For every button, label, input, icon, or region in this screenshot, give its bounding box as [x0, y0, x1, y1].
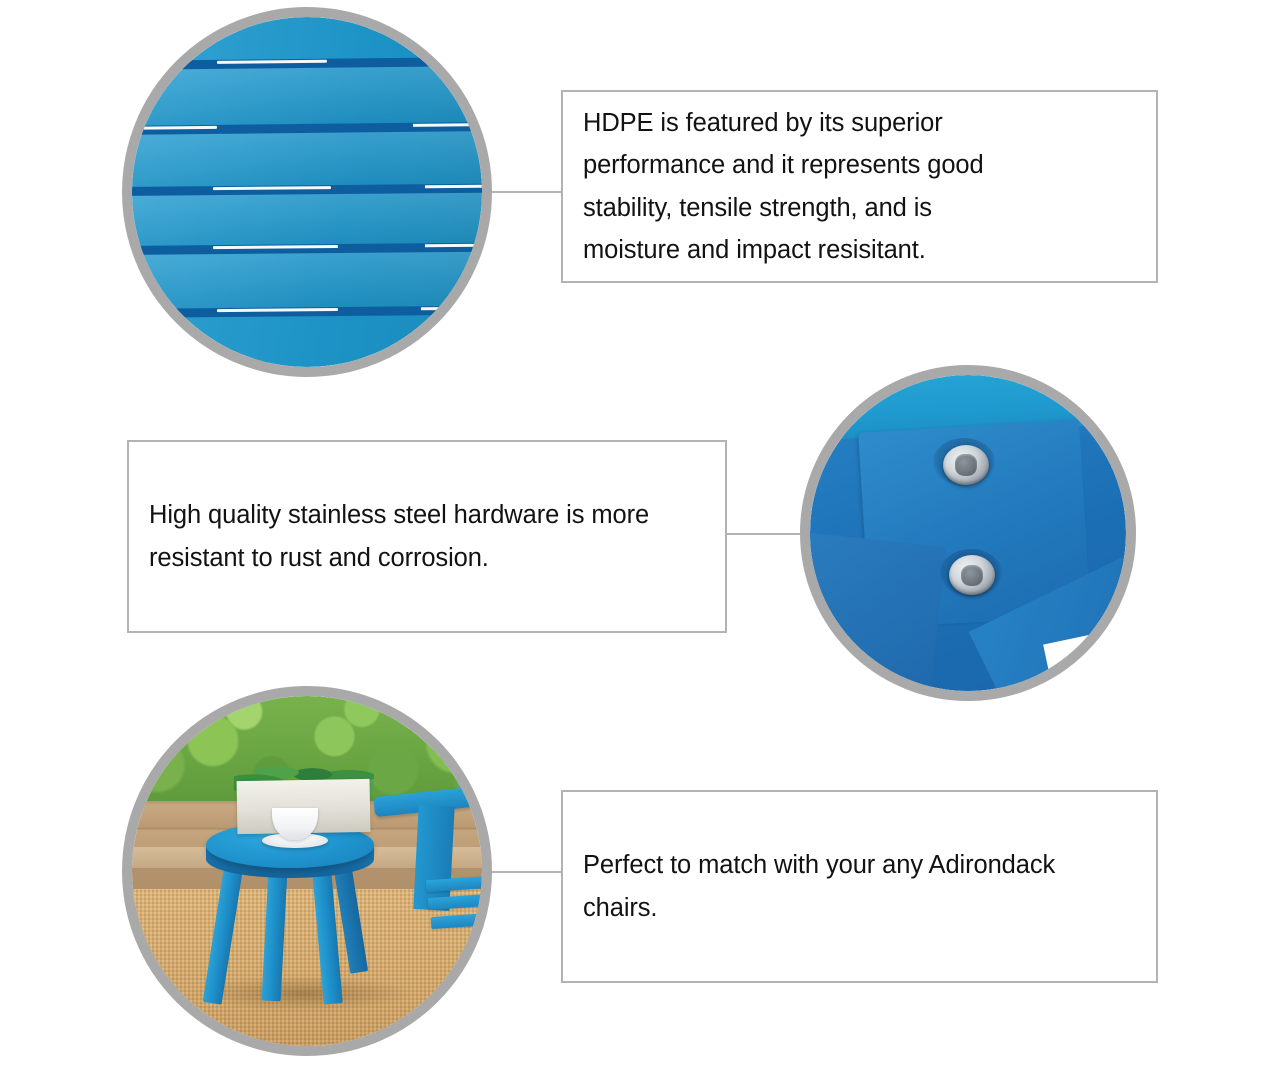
callout-text-match: Perfect to match with your any Adirondac… [563, 844, 1055, 929]
photo-patio-lifestyle [122, 686, 492, 1056]
connector-line-hdpe [486, 191, 564, 193]
stainless-bolt-icon [943, 445, 989, 485]
hardware-photo-inner [810, 375, 1126, 691]
infographic-canvas: HDPE is featured by its superior perform… [0, 0, 1280, 1074]
adirondack-chair [374, 791, 483, 959]
callout-box-hdpe: HDPE is featured by its superior perform… [561, 90, 1158, 283]
connector-line-hardware [725, 533, 805, 535]
photo-hdpe-slat-closeup [122, 7, 492, 377]
callout-text-hdpe: HDPE is featured by its superior perform… [563, 102, 984, 271]
callout-box-match: Perfect to match with your any Adirondac… [561, 790, 1158, 983]
table-shadow [195, 976, 412, 1011]
stainless-bolt-icon [949, 555, 995, 595]
hardware-scene [810, 375, 1126, 691]
chair-seat-slat [430, 913, 482, 929]
chair-seat-slat [428, 894, 482, 910]
lifestyle-photo-inner [132, 696, 482, 1046]
callout-text-hardware: High quality stainless steel hardware is… [129, 494, 649, 579]
connector-line-match [486, 871, 564, 873]
lifestyle-scene [132, 696, 482, 1046]
chair-back-post [414, 805, 455, 911]
chair-leg [810, 532, 946, 691]
callout-box-hardware: High quality stainless steel hardware is… [127, 440, 727, 633]
slat-photo-inner [132, 17, 482, 367]
photo-stainless-hardware-closeup [800, 365, 1136, 701]
